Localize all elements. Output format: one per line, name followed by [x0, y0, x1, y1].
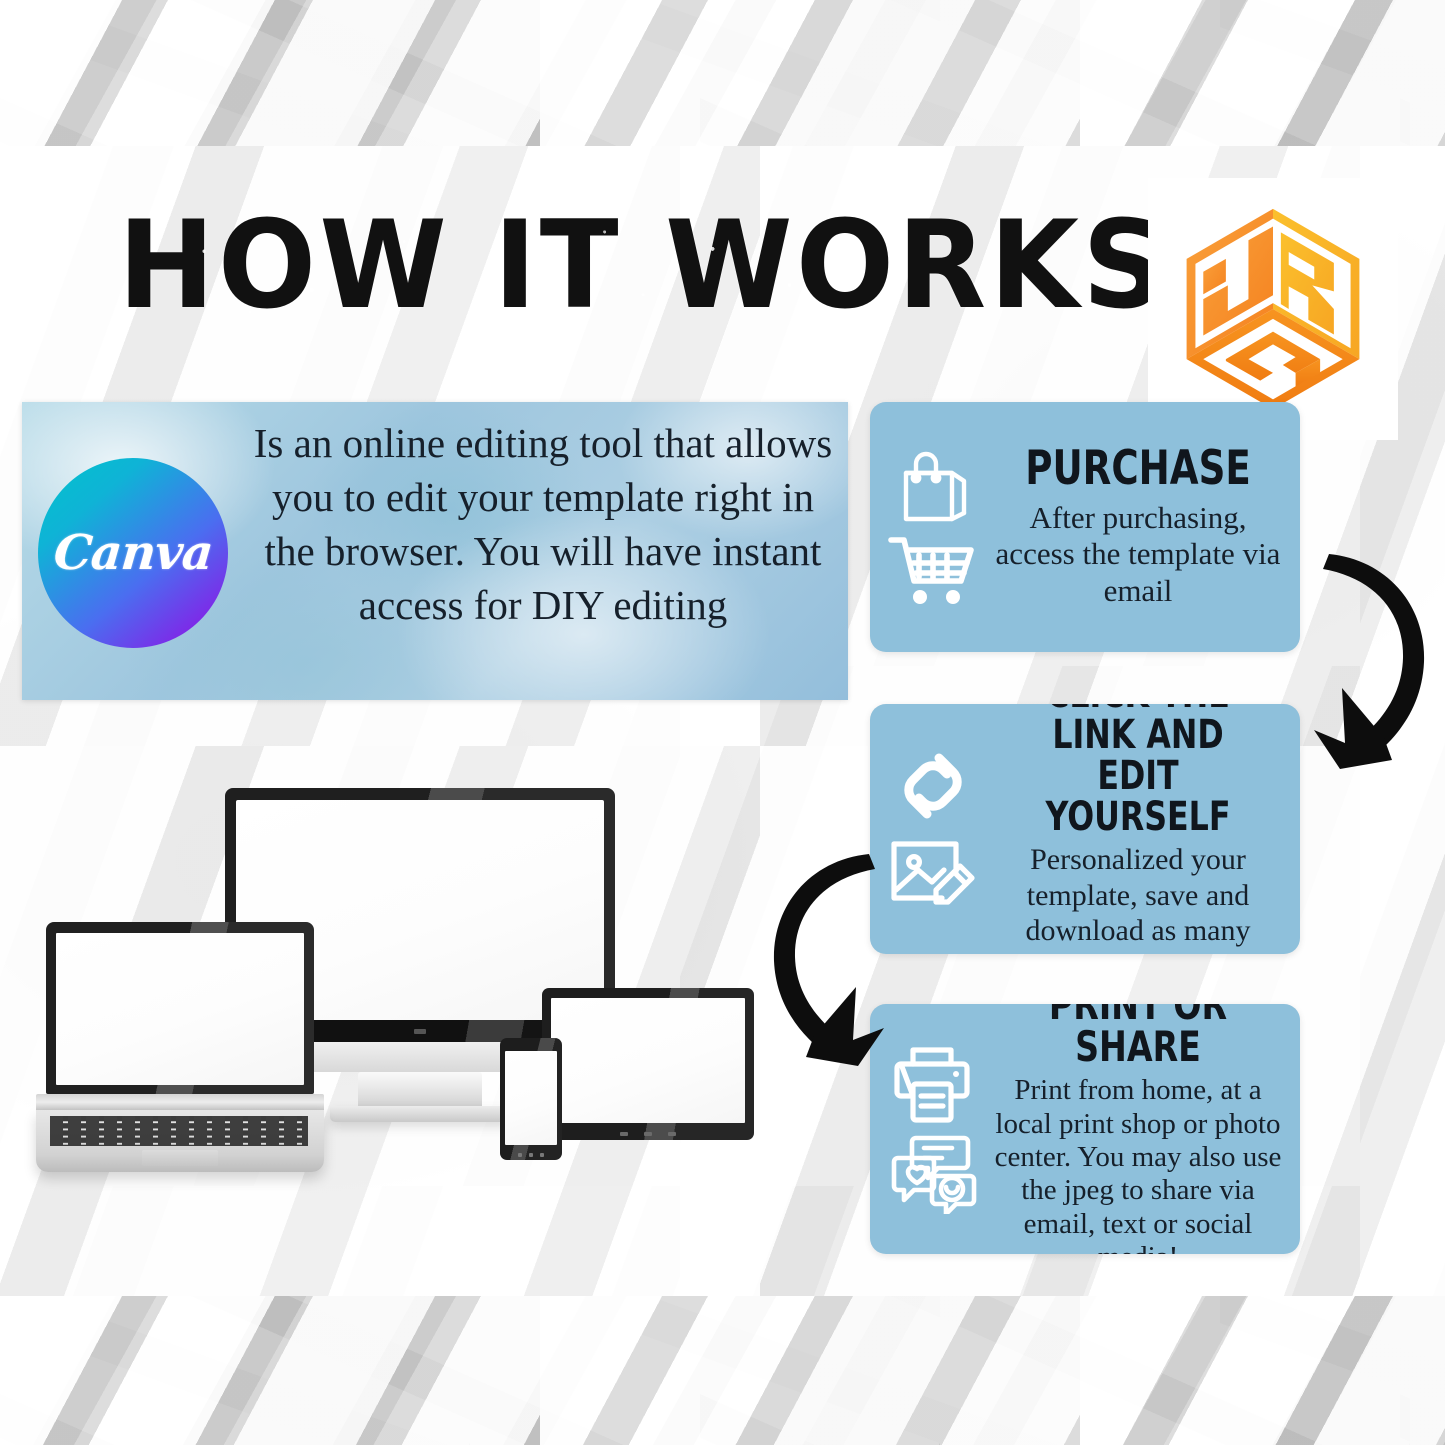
chain-link-icon	[889, 746, 977, 826]
purchase-icon-group	[870, 447, 988, 607]
tablet-mockup	[542, 988, 754, 1140]
step-card-purchase[interactable]: PURCHASE After purchasing, access the te…	[870, 402, 1300, 652]
laptop-mockup	[36, 922, 324, 1148]
monitor-stand-base	[330, 1106, 510, 1122]
phone-nav-indicator	[518, 1153, 544, 1157]
purchase-heading: PURCHASE	[1008, 445, 1268, 493]
shopping-cart-icon	[887, 533, 979, 607]
top-paper-texture-band	[0, 0, 1445, 146]
laptop-keys	[50, 1116, 308, 1146]
step-card-edit[interactable]: CLICK THE LINK AND EDIT YOURSELF Persona…	[870, 704, 1300, 954]
smartphone-mockup	[500, 1038, 562, 1160]
edit-heading: CLICK THE LINK AND EDIT YOURSELF	[1008, 704, 1268, 837]
phone-bezel	[500, 1038, 562, 1160]
arrow-purchase-to-edit-icon	[1296, 538, 1445, 774]
canva-info-banner: Canva Is an online editing tool that all…	[22, 402, 848, 700]
laptop-trackpad	[142, 1150, 218, 1166]
print-description: Print from home, at a local print shop o…	[990, 1074, 1286, 1254]
tablet-bezel	[542, 988, 754, 1140]
print-text-block: PRINT OR SHARE Print from home, at a loc…	[988, 1004, 1300, 1254]
phone-screen	[505, 1051, 557, 1145]
shopping-bag-icon	[890, 447, 976, 527]
canva-wordmark: Canva	[51, 525, 214, 581]
edit-description: Personalized your template, save and dow…	[990, 842, 1286, 954]
infographic-poster: HOW IT WORKS	[0, 0, 1445, 1445]
laptop-keyboard-deck	[36, 1110, 324, 1172]
purchase-description: After purchasing, access the template vi…	[990, 500, 1286, 610]
laptop-lid	[46, 922, 314, 1094]
printer-icon	[889, 1044, 977, 1126]
canva-description: Is an online editing tool that allows yo…	[252, 416, 834, 632]
chat-bubbles-icon	[886, 1132, 980, 1214]
print-heading: PRINT OR SHARE	[1008, 1004, 1268, 1069]
purchase-text-block: PURCHASE After purchasing, access the te…	[988, 439, 1300, 616]
tablet-home-indicator	[620, 1132, 676, 1136]
edit-text-block: CLICK THE LINK AND EDIT YOURSELF Persona…	[988, 704, 1300, 954]
page-title: HOW IT WORKS	[118, 206, 931, 327]
tablet-screen	[551, 998, 745, 1123]
bottom-paper-texture-band	[0, 1296, 1445, 1445]
laptop-screen	[56, 933, 304, 1085]
brand-logo-box	[1148, 178, 1398, 440]
hrg-cube-logo-icon	[1165, 201, 1381, 417]
arrow-edit-to-print-icon	[752, 840, 902, 1070]
step-card-print[interactable]: PRINT OR SHARE Print from home, at a loc…	[870, 1004, 1300, 1254]
device-mockup-group	[30, 770, 790, 1170]
canva-logo-icon: Canva	[38, 458, 228, 648]
monitor-stand-neck	[358, 1072, 482, 1108]
